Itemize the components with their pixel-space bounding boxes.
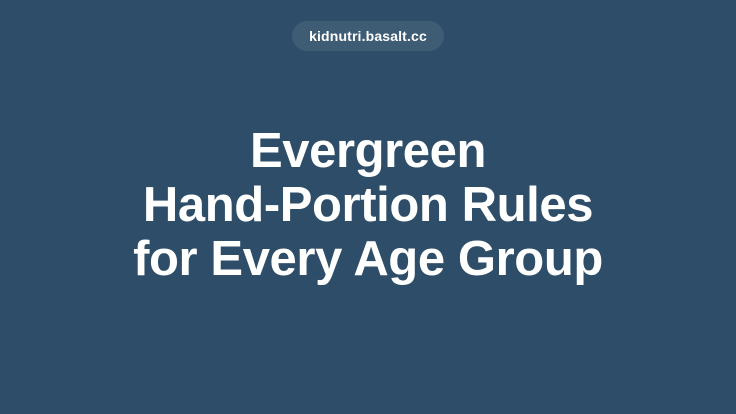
domain-badge-container: kidnutri.basalt.cc: [0, 21, 736, 51]
page-title-line-2: Hand-Portion Rules: [143, 178, 593, 232]
title-card: kidnutri.basalt.cc Evergreen Hand-Portio…: [0, 0, 736, 414]
page-title-line-3: for Every Age Group: [133, 232, 603, 286]
domain-badge-label: kidnutri.basalt.cc: [309, 29, 427, 43]
page-title: Evergreen Hand-Portion Rules for Every A…: [0, 124, 736, 286]
domain-badge[interactable]: kidnutri.basalt.cc: [292, 21, 444, 51]
page-title-line-1: Evergreen: [250, 124, 486, 178]
